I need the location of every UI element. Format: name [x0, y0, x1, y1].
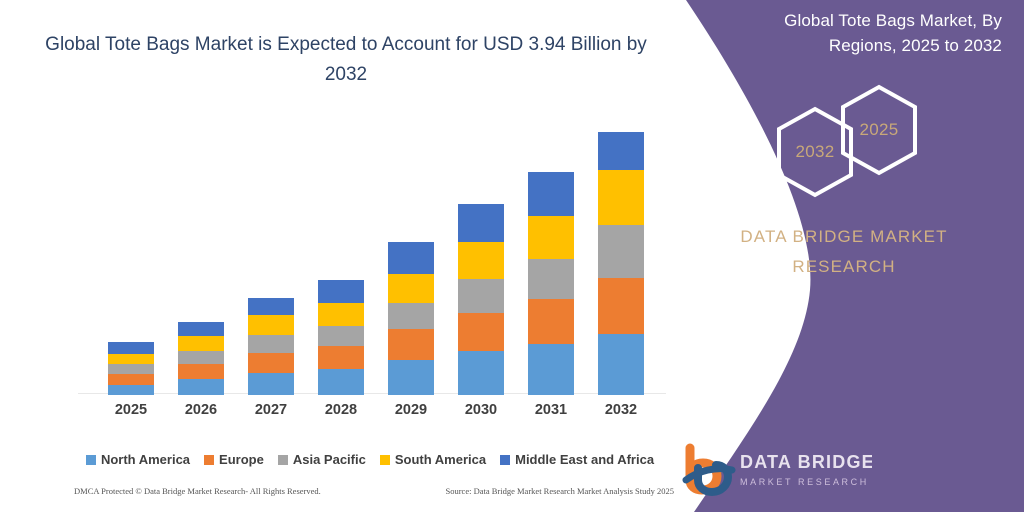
- brand-name-line1: DATA BRIDGE MARKET: [694, 222, 994, 252]
- bar-segment-2030-series-4: [458, 204, 504, 242]
- legend-label: South America: [395, 452, 486, 467]
- bar-segment-2031-series-0: [528, 344, 574, 395]
- bar-segment-2032-series-4: [598, 132, 644, 170]
- bar-segment-2025-series-1: [108, 374, 154, 385]
- bar-segment-2030-series-2: [458, 279, 504, 313]
- x-axis-labels: 20252026202720282029203020312032: [96, 398, 656, 422]
- footer-source: Source: Data Bridge Market Research Mark…: [445, 486, 674, 496]
- legend-label: Asia Pacific: [293, 452, 366, 467]
- bar-segment-2029-series-2: [388, 303, 434, 329]
- bar-segment-2031-series-2: [528, 259, 574, 299]
- bar-segment-2025-series-3: [108, 354, 154, 364]
- bar-segment-2031-series-4: [528, 172, 574, 216]
- bar-segment-2026-series-4: [178, 322, 224, 336]
- brand-name-line2: RESEARCH: [694, 252, 994, 282]
- bar-segment-2027-series-0: [248, 373, 294, 395]
- x-tick-2027: 2027: [236, 402, 306, 418]
- bar-2030: [458, 204, 504, 395]
- bar-segment-2026-series-2: [178, 351, 224, 364]
- bar-segment-2031-series-1: [528, 299, 574, 344]
- bar-segment-2027-series-1: [248, 353, 294, 373]
- bar-segment-2032-series-0: [598, 334, 644, 395]
- bar-2026: [178, 322, 224, 395]
- legend-item-1[interactable]: Europe: [204, 452, 264, 467]
- bar-segment-2028-series-3: [318, 303, 364, 326]
- bar-segment-2030-series-0: [458, 351, 504, 395]
- bar-segment-2027-series-3: [248, 315, 294, 335]
- bar-segment-2026-series-3: [178, 336, 224, 351]
- bar-2027: [248, 298, 294, 395]
- bar-segment-2028-series-2: [318, 326, 364, 346]
- legend-item-4[interactable]: Middle East and Africa: [500, 452, 654, 467]
- bar-segment-2028-series-1: [318, 346, 364, 369]
- legend-item-3[interactable]: South America: [380, 452, 486, 467]
- bar-2031: [528, 172, 574, 395]
- bar-segment-2031-series-3: [528, 216, 574, 258]
- hexagon-group: 2032 2025: [764, 88, 954, 200]
- bar-segment-2029-series-1: [388, 329, 434, 360]
- bar-2028: [318, 280, 364, 395]
- legend-label: North America: [101, 452, 190, 467]
- bar-segment-2029-series-0: [388, 360, 434, 395]
- bar-segment-2028-series-4: [318, 280, 364, 303]
- stacked-bar-plot: [96, 110, 656, 395]
- legend-swatch-icon: [86, 455, 96, 465]
- x-tick-2031: 2031: [516, 402, 586, 418]
- bar-segment-2028-series-0: [318, 369, 364, 395]
- hexagon-2025: 2025: [836, 82, 922, 178]
- bar-segment-2025-series-0: [108, 385, 154, 395]
- infographic-root: Global Tote Bags Market is Expected to A…: [0, 0, 1024, 512]
- x-tick-2028: 2028: [306, 402, 376, 418]
- legend-label: Europe: [219, 452, 264, 467]
- bar-segment-2032-series-2: [598, 225, 644, 277]
- brand-panel: Global Tote Bags Market, By Regions, 202…: [664, 0, 1024, 512]
- legend-item-0[interactable]: North America: [86, 452, 190, 467]
- hexagon-2025-label: 2025: [836, 82, 922, 178]
- legend-swatch-icon: [380, 455, 390, 465]
- logo-text-primary: DATA BRIDGE: [740, 452, 872, 472]
- legend-label: Middle East and Africa: [515, 452, 654, 467]
- footer-copyright: DMCA Protected © Data Bridge Market Rese…: [74, 486, 321, 496]
- legend-swatch-icon: [204, 455, 214, 465]
- panel-title: Global Tote Bags Market, By Regions, 202…: [712, 8, 1002, 58]
- bar-segment-2025-series-4: [108, 342, 154, 354]
- chart-legend: North AmericaEuropeAsia PacificSouth Ame…: [60, 452, 680, 467]
- legend-swatch-icon: [500, 455, 510, 465]
- bar-2032: [598, 132, 644, 395]
- bar-segment-2025-series-2: [108, 364, 154, 374]
- x-tick-2026: 2026: [166, 402, 236, 418]
- bar-segment-2032-series-3: [598, 170, 644, 225]
- bar-segment-2030-series-3: [458, 242, 504, 278]
- bar-segment-2029-series-4: [388, 242, 434, 273]
- bar-2029: [388, 242, 434, 395]
- bar-segment-2026-series-0: [178, 379, 224, 395]
- bar-segment-2026-series-1: [178, 364, 224, 379]
- bar-segment-2032-series-1: [598, 278, 644, 334]
- bar-2025: [108, 342, 154, 395]
- legend-item-2[interactable]: Asia Pacific: [278, 452, 366, 467]
- legend-swatch-icon: [278, 455, 288, 465]
- x-tick-2030: 2030: [446, 402, 516, 418]
- company-logo: DATA BRIDGE MARKET RESEARCH: [682, 440, 872, 496]
- bar-segment-2027-series-2: [248, 335, 294, 353]
- data-bridge-logo-icon: DATA BRIDGE MARKET RESEARCH: [682, 440, 872, 496]
- x-tick-2025: 2025: [96, 402, 166, 418]
- x-tick-2029: 2029: [376, 402, 446, 418]
- footer: DMCA Protected © Data Bridge Market Rese…: [74, 486, 674, 496]
- bar-segment-2029-series-3: [388, 274, 434, 303]
- x-tick-2032: 2032: [586, 402, 656, 418]
- brand-name: DATA BRIDGE MARKET RESEARCH: [694, 222, 994, 282]
- logo-text-secondary: MARKET RESEARCH: [740, 477, 869, 487]
- bar-segment-2030-series-1: [458, 313, 504, 351]
- bar-segment-2027-series-4: [248, 298, 294, 315]
- chart-title: Global Tote Bags Market is Expected to A…: [40, 30, 652, 90]
